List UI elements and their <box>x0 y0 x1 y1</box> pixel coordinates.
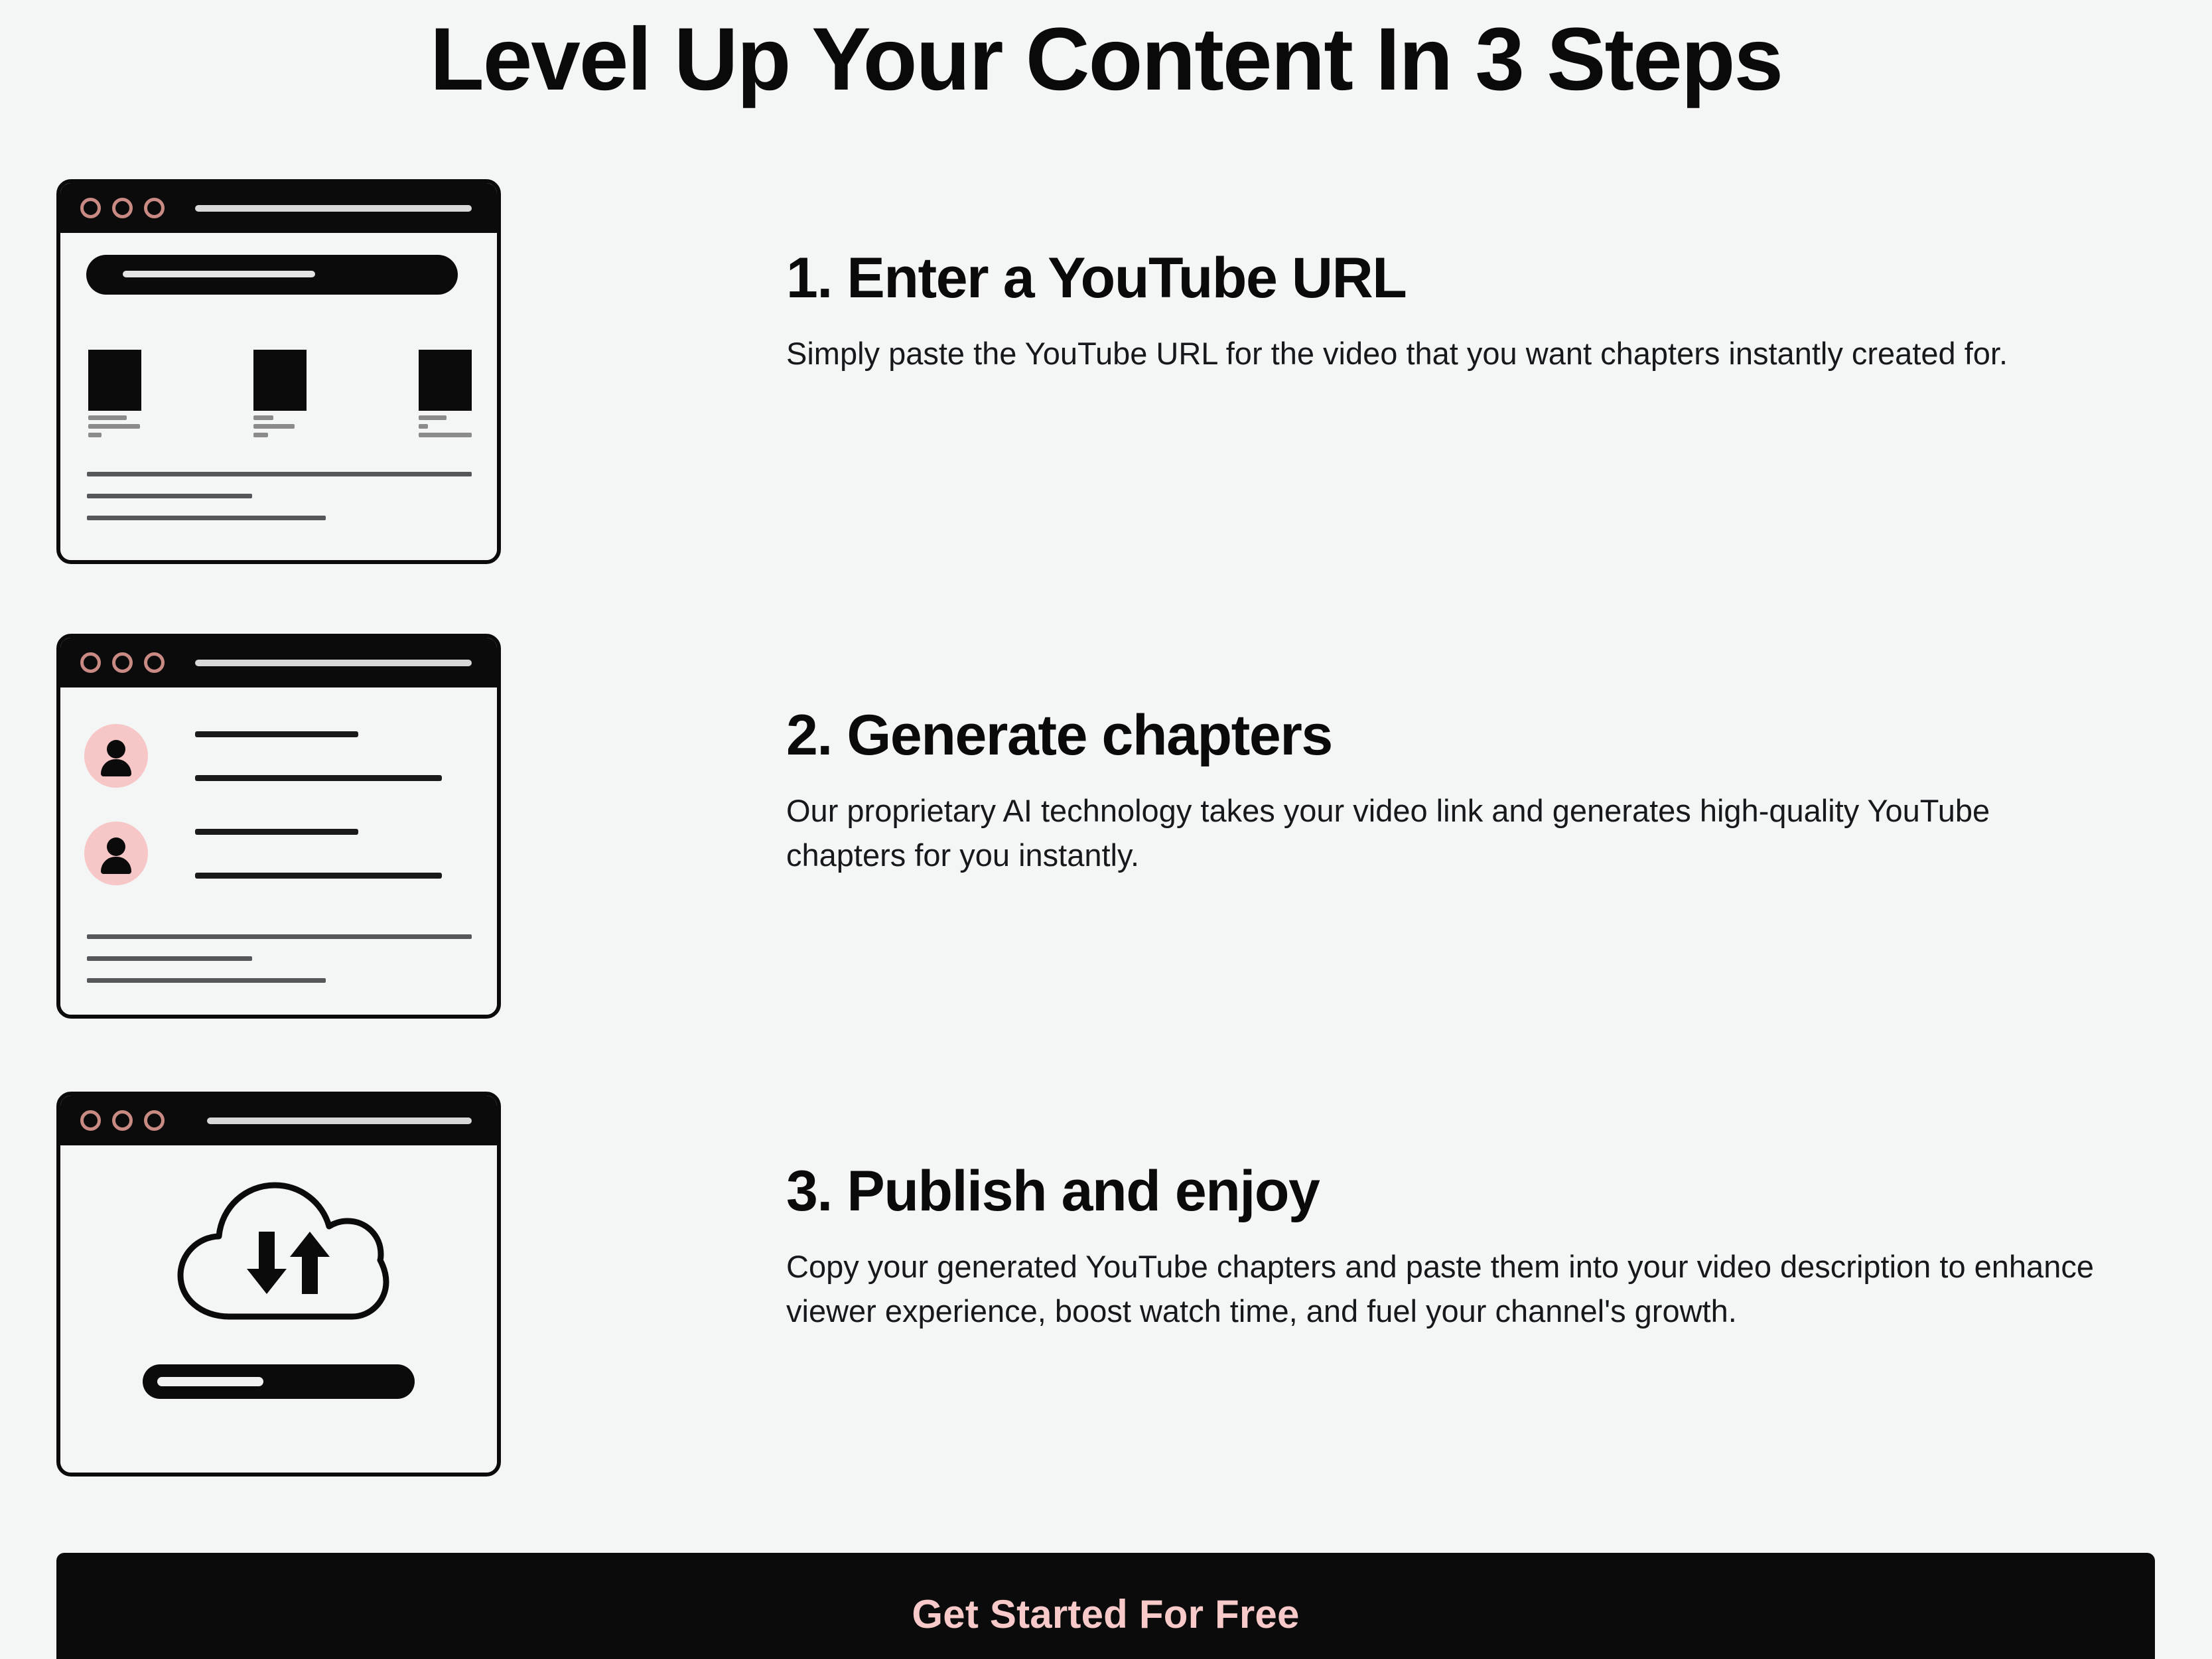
step-description: Our proprietary AI technology takes your… <box>786 789 2103 877</box>
paragraph-line <box>87 494 252 498</box>
list-item-line <box>195 775 442 781</box>
thumbnail-item <box>88 350 141 437</box>
caption-line <box>253 415 273 420</box>
window-maximize-dot-icon <box>144 1110 165 1131</box>
step-text-3: 3. Publish and enjoy Copy your generated… <box>786 1161 2113 1334</box>
browser-content-3 <box>60 1145 497 1477</box>
step-heading: 1. Enter a YouTube URL <box>786 248 2113 308</box>
thumbnail-image <box>419 350 472 411</box>
step-text-2: 2. Generate chapters Our proprietary AI … <box>786 705 2113 878</box>
steps-page: Level Up Your Content In 3 Steps <box>0 0 2212 1659</box>
caption-line <box>419 424 428 429</box>
thumbnail-image <box>88 350 141 411</box>
caption-line <box>253 433 268 437</box>
step-heading: 2. Generate chapters <box>786 705 2113 765</box>
paragraph-line <box>87 934 472 939</box>
paragraph-line <box>87 472 472 476</box>
list-item-line <box>195 873 442 879</box>
person-body-icon <box>101 857 131 874</box>
list-item-lines <box>195 731 442 781</box>
caption-line <box>419 433 472 437</box>
thumbnail-image <box>253 350 307 411</box>
window-controls <box>80 1110 165 1131</box>
window-close-dot-icon <box>80 652 101 673</box>
paragraph-line <box>87 956 252 961</box>
list-item-line <box>195 829 358 835</box>
address-bar-placeholder <box>195 205 472 212</box>
caption-line <box>253 424 295 429</box>
search-field-placeholder <box>86 255 458 295</box>
cloud-sync-icon <box>166 1171 391 1336</box>
caption-line <box>88 433 102 437</box>
illustration-card-1 <box>56 179 501 564</box>
steps-list: 1. Enter a YouTube URL Simply paste the … <box>0 0 2212 1659</box>
thumbnail-item <box>419 350 472 437</box>
window-controls <box>80 652 165 673</box>
step-heading: 3. Publish and enjoy <box>786 1161 2113 1221</box>
address-bar-placeholder <box>195 660 472 666</box>
step-description: Copy your generated YouTube chapters and… <box>786 1245 2103 1333</box>
avatar <box>84 822 148 885</box>
list-item <box>84 822 442 885</box>
list-item <box>84 724 442 788</box>
paragraph-line <box>87 516 326 520</box>
caption-line <box>88 424 140 429</box>
paragraph-placeholder-lines <box>87 934 472 983</box>
avatar <box>84 724 148 788</box>
step-description: Simply paste the YouTube URL for the vid… <box>786 332 2103 376</box>
get-started-button[interactable]: Get Started For Free <box>56 1553 2155 1659</box>
window-minimize-dot-icon <box>112 652 133 673</box>
caption-line <box>88 415 127 420</box>
browser-titlebar <box>60 183 497 233</box>
illustration-card-3 <box>56 1092 501 1477</box>
person-head-icon <box>107 740 125 758</box>
list-item-line <box>195 731 358 737</box>
address-bar-placeholder <box>207 1118 472 1124</box>
list-item-lines <box>195 829 442 879</box>
step-text-1: 1. Enter a YouTube URL Simply paste the … <box>786 248 2113 376</box>
thumbnail-item <box>253 350 307 437</box>
person-head-icon <box>107 837 125 856</box>
person-body-icon <box>101 759 131 776</box>
illustration-card-2 <box>56 634 501 1019</box>
get-started-button-label: Get Started For Free <box>912 1591 1299 1637</box>
window-controls <box>80 198 165 218</box>
paragraph-placeholder-lines <box>87 472 472 520</box>
browser-titlebar <box>60 638 497 687</box>
window-minimize-dot-icon <box>112 1110 133 1131</box>
progress-bar <box>143 1364 415 1399</box>
caption-line <box>419 415 447 420</box>
window-maximize-dot-icon <box>144 198 165 218</box>
thumbnail-caption-lines <box>419 415 472 437</box>
browser-content-2 <box>60 687 497 1019</box>
browser-content-1 <box>60 233 497 564</box>
window-close-dot-icon <box>80 198 101 218</box>
paragraph-line <box>87 978 326 983</box>
window-maximize-dot-icon <box>144 652 165 673</box>
browser-titlebar <box>60 1096 497 1145</box>
thumbnail-caption-lines <box>88 415 141 437</box>
thumbnail-caption-lines <box>253 415 307 437</box>
window-close-dot-icon <box>80 1110 101 1131</box>
thumbnail-row <box>88 350 472 437</box>
window-minimize-dot-icon <box>112 198 133 218</box>
